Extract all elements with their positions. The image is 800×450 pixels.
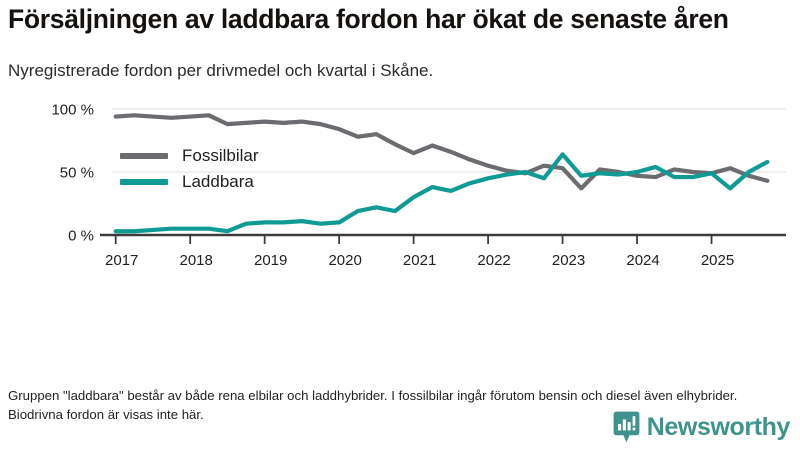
chart-container: 0 %50 %100 % 201720182019202020212022202… [8, 95, 800, 270]
x-tick-label: 2018 [180, 252, 213, 269]
newsworthy-logo: Newsworthy [613, 410, 790, 444]
y-axis-tick-labels: 0 %50 %100 % [51, 102, 94, 245]
x-tick-label: 2021 [403, 252, 436, 269]
x-tick-label: 2020 [328, 252, 361, 269]
page-title: Försäljningen av laddbara fordon har öka… [8, 0, 788, 35]
chart-series-layer [116, 116, 768, 232]
x-tick-label: 2024 [626, 252, 659, 269]
x-tick-label: 2023 [552, 252, 585, 269]
x-axis-tick-labels: 201720182019202020212022202320242025 [105, 252, 734, 269]
line-chart: 0 %50 %100 % 201720182019202020212022202… [8, 95, 800, 270]
brand-name: Newsworthy [647, 415, 790, 440]
chart-axis-layer [100, 235, 786, 244]
x-tick-label: 2017 [105, 252, 138, 269]
y-tick-label: 0 % [68, 228, 94, 245]
chart-subtitle: Nyregistrerade fordon per drivmedel och … [8, 35, 792, 81]
x-tick-label: 2019 [254, 252, 287, 269]
chart-page: Försäljningen av laddbara fordon har öka… [0, 0, 800, 450]
y-tick-label: 50 % [60, 165, 94, 182]
bar-chart-pin-icon [613, 411, 640, 443]
y-tick-label: 100 % [51, 102, 94, 119]
x-tick-label: 2025 [701, 252, 734, 269]
series-line-laddbara [116, 155, 768, 232]
series-line-fossilbilar [116, 116, 768, 189]
x-tick-label: 2022 [477, 252, 510, 269]
